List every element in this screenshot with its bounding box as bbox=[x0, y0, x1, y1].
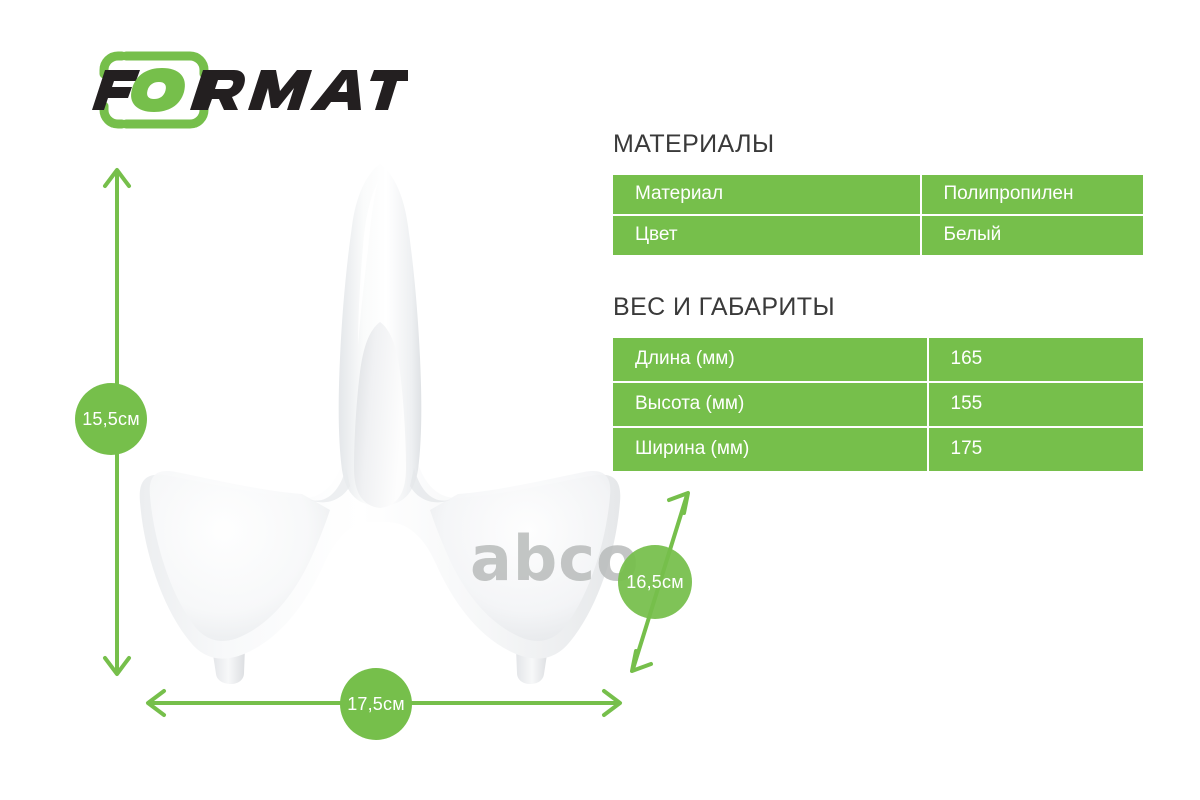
dimension-badge-depth: 16,5см bbox=[618, 545, 692, 619]
depth-arrow-head-top bbox=[669, 493, 688, 513]
dims-row-1-value: 155 bbox=[927, 383, 1143, 426]
format-brand-logo bbox=[78, 44, 408, 140]
dims-row-2-value: 175 bbox=[927, 428, 1143, 471]
materials-row-1-value: Белый bbox=[920, 216, 1144, 255]
materials-section-title: МАТЕРИАЛЫ bbox=[613, 130, 1143, 159]
table-row: Высота (мм) 155 bbox=[613, 383, 1143, 426]
weight-dimensions-section-title: ВЕС И ГАБАРИТЫ bbox=[613, 293, 1143, 322]
width-arrow-head-left bbox=[148, 691, 164, 715]
materials-section: МАТЕРИАЛЫ Материал Полипропилен Цвет Бел… bbox=[613, 130, 1143, 257]
dims-row-0-value: 165 bbox=[927, 338, 1143, 381]
materials-table: Материал Полипропилен Цвет Белый bbox=[613, 173, 1143, 257]
weight-dimensions-section: ВЕС И ГАБАРИТЫ Длина (мм) 165 Высота (мм… bbox=[613, 293, 1143, 473]
dims-row-2-key: Ширина (мм) bbox=[613, 428, 927, 471]
materials-row-0-key: Материал bbox=[613, 175, 920, 214]
table-row: Длина (мм) 165 bbox=[613, 338, 1143, 381]
width-arrow-head-right bbox=[604, 691, 620, 715]
table-row: Материал Полипропилен bbox=[613, 175, 1143, 214]
table-row: Ширина (мм) 175 bbox=[613, 428, 1143, 471]
product-image bbox=[120, 150, 640, 690]
logo-letter-o-icon bbox=[131, 68, 185, 112]
dimension-badge-height: 15,5см bbox=[75, 383, 147, 455]
specifications-panel: МАТЕРИАЛЫ Материал Полипропилен Цвет Бел… bbox=[613, 130, 1143, 473]
product-spec-sheet: abco 15,5см 17,5см 16,5см МАТЕРИАЛЫ bbox=[0, 0, 1200, 800]
materials-row-0-value: Полипропилен bbox=[920, 175, 1144, 214]
dimension-badge-width: 17,5см bbox=[340, 668, 412, 740]
table-row: Цвет Белый bbox=[613, 216, 1143, 255]
dims-row-0-key: Длина (мм) bbox=[613, 338, 927, 381]
dims-row-1-key: Высота (мм) bbox=[613, 383, 927, 426]
materials-row-1-key: Цвет bbox=[613, 216, 920, 255]
weight-dimensions-table: Длина (мм) 165 Высота (мм) 155 Ширина (м… bbox=[613, 336, 1143, 473]
